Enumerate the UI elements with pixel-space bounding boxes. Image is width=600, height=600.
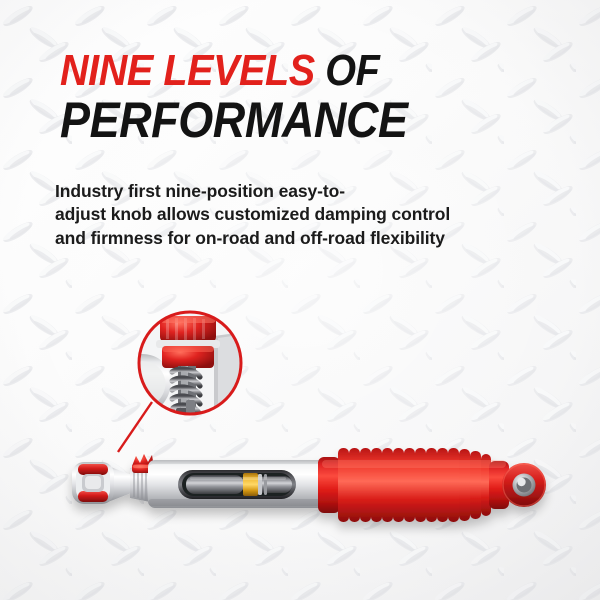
body-copy: Industry first nine-position easy-to- ad…	[55, 180, 515, 250]
magnified-adjuster-knob	[156, 316, 220, 368]
headline: NINE LEVELS OF PERFORMANCE	[60, 50, 560, 144]
body-copy-line-2: adjust knob allows customized damping co…	[55, 203, 515, 226]
right-eyelet-mount	[502, 463, 546, 507]
cutaway-internals-window	[178, 470, 296, 499]
headline-of-word: OF	[325, 46, 379, 95]
callout-leader-line	[118, 402, 152, 452]
product-illustration	[0, 280, 600, 560]
magnified-knob-callout	[104, 312, 268, 422]
headline-line-1: NINE LEVELS OF	[60, 50, 510, 92]
piston-band	[243, 473, 258, 496]
headline-nine-levels: NINE LEVELS	[60, 46, 315, 95]
red-bellows-dust-boot	[318, 448, 509, 522]
headline-line-2: PERFORMANCE	[60, 96, 510, 144]
headline-of	[315, 46, 326, 95]
shock-absorber	[72, 448, 546, 522]
body-copy-line-1: Industry first nine-position easy-to-	[55, 180, 515, 203]
left-eyelet-bushing	[72, 462, 134, 504]
product-feature-graphic: NINE LEVELS OF PERFORMANCE Industry firs…	[0, 0, 600, 600]
body-copy-line-3: and firmness for on-road and off-road fl…	[55, 227, 515, 250]
